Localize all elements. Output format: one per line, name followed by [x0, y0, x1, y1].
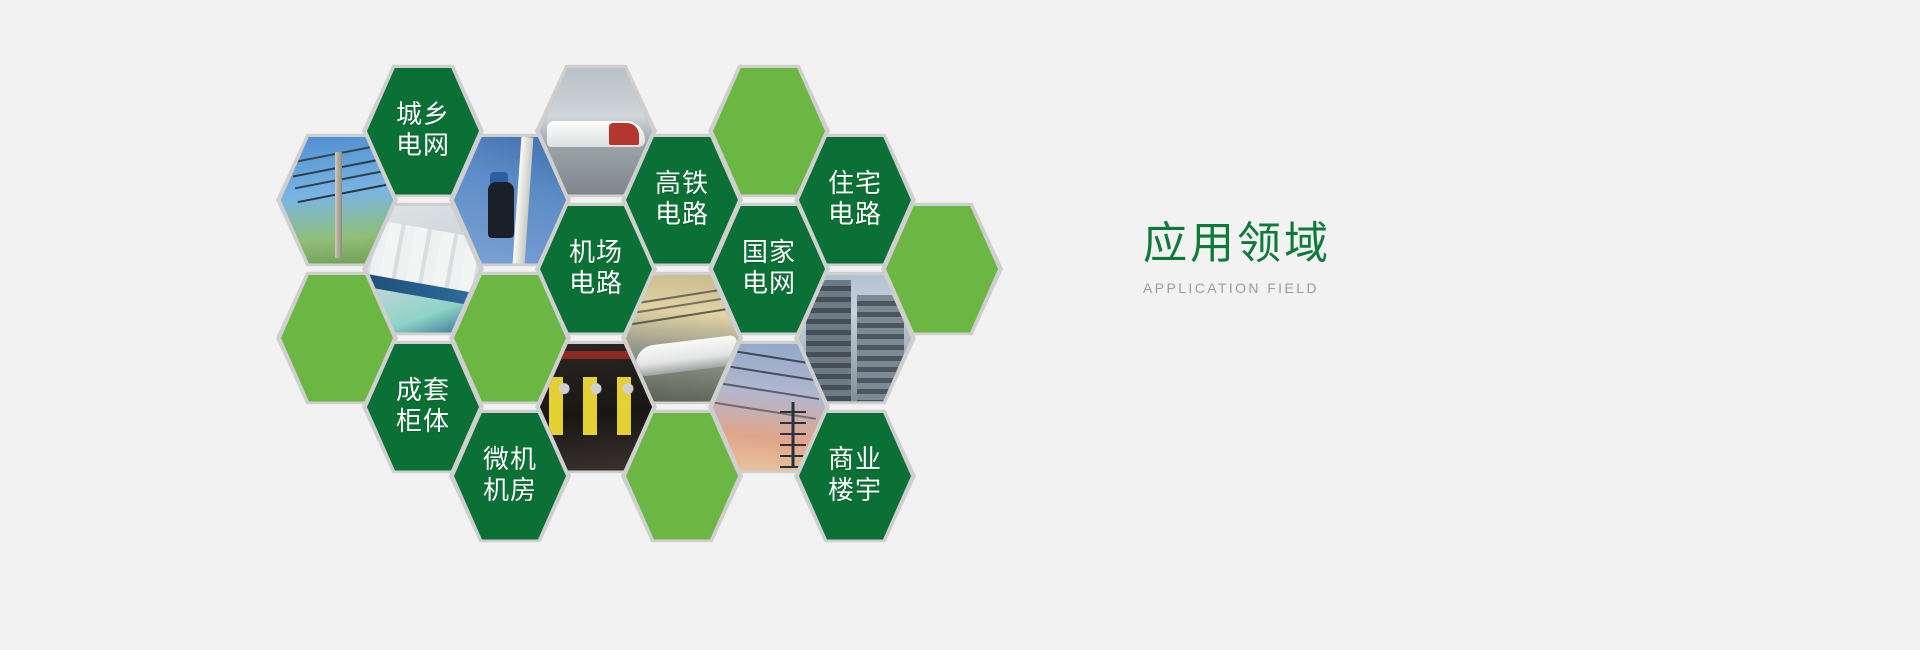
hex-label: 成套 柜体 [396, 376, 450, 437]
page-subtitle: APPLICATION FIELD [1143, 280, 1563, 296]
page-title: 应用领域 [1143, 220, 1563, 268]
hex-label: 高铁 电路 [655, 169, 709, 230]
application-field-banner: 城乡 电网机场 电路高铁 电路国家 电网住宅 电路成套 柜体微机 机房商业 楼宇… [0, 0, 1920, 650]
hex-label: 商业 楼宇 [828, 445, 882, 506]
hex-inner: 商业 楼宇 [799, 413, 911, 540]
hex-label: 微机 机房 [483, 445, 537, 506]
hex-label: 机场 电路 [569, 238, 623, 299]
hex-label: 城乡 电网 [396, 100, 450, 161]
hex-label: 国家 电网 [742, 238, 796, 299]
hexagon-honeycomb: 城乡 电网机场 电路高铁 电路国家 电网住宅 电路成套 柜体微机 机房商业 楼宇 [0, 0, 1120, 650]
headline-block: 应用领域 APPLICATION FIELD [1143, 220, 1563, 296]
hex-label: 住宅 电路 [828, 169, 882, 230]
